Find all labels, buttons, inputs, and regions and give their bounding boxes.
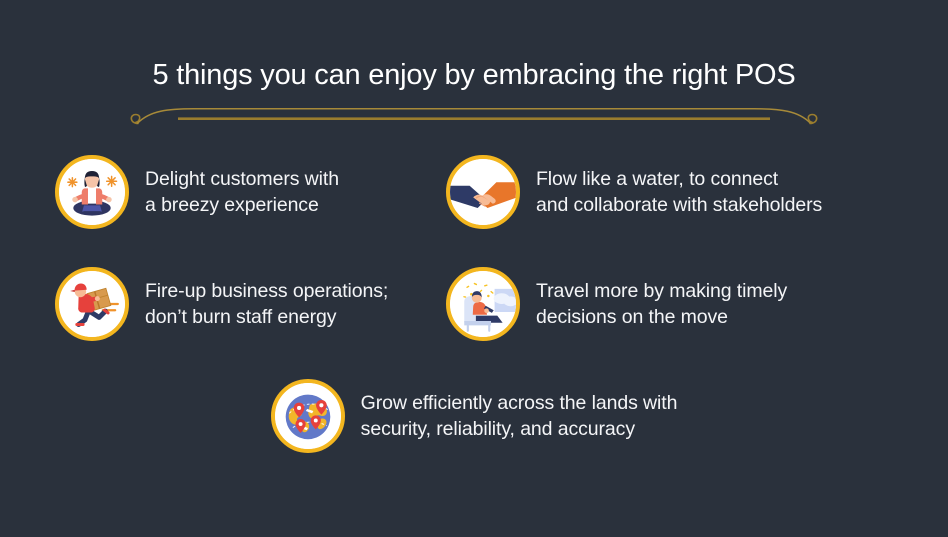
feature-row-3: Grow efficiently across the lands with s… <box>0 379 948 453</box>
feature-label: Delight customers with a breezy experien… <box>145 166 339 219</box>
ornamental-scroll-divider <box>116 106 832 132</box>
meditating-woman-with-laptop-icon <box>55 155 129 229</box>
feature-label: Flow like a water, to connect and collab… <box>536 166 822 219</box>
features-grid: Delight customers with a breezy experien… <box>0 155 948 453</box>
globe-with-map-pins-icon <box>271 379 345 453</box>
feature-label: Grow efficiently across the lands with s… <box>361 390 678 443</box>
feature-label: Fire-up business operations; don’t burn … <box>145 278 388 331</box>
feature-item-grow-efficiently[interactable]: Grow efficiently across the lands with s… <box>271 379 678 453</box>
feature-item-travel-more[interactable]: Travel more by making timely decisions o… <box>423 267 893 341</box>
traveler-in-seat-with-tablet-icon <box>446 267 520 341</box>
feature-item-fire-up-operations[interactable]: Fire-up business operations; don’t burn … <box>0 267 423 341</box>
title-block: 5 things you can enjoy by embracing the … <box>0 58 948 132</box>
feature-row-1: Delight customers with a breezy experien… <box>0 155 948 229</box>
feature-item-delight-customers[interactable]: Delight customers with a breezy experien… <box>0 155 423 229</box>
handshake-icon <box>446 155 520 229</box>
feature-item-flow-like-water[interactable]: Flow like a water, to connect and collab… <box>423 155 893 229</box>
feature-label: Travel more by making timely decisions o… <box>536 278 787 331</box>
feature-row-2: Fire-up business operations; don’t burn … <box>0 267 948 341</box>
running-delivery-person-with-box-icon <box>55 267 129 341</box>
slide-canvas: 5 things you can enjoy by embracing the … <box>0 0 948 537</box>
page-title: 5 things you can enjoy by embracing the … <box>0 58 948 92</box>
